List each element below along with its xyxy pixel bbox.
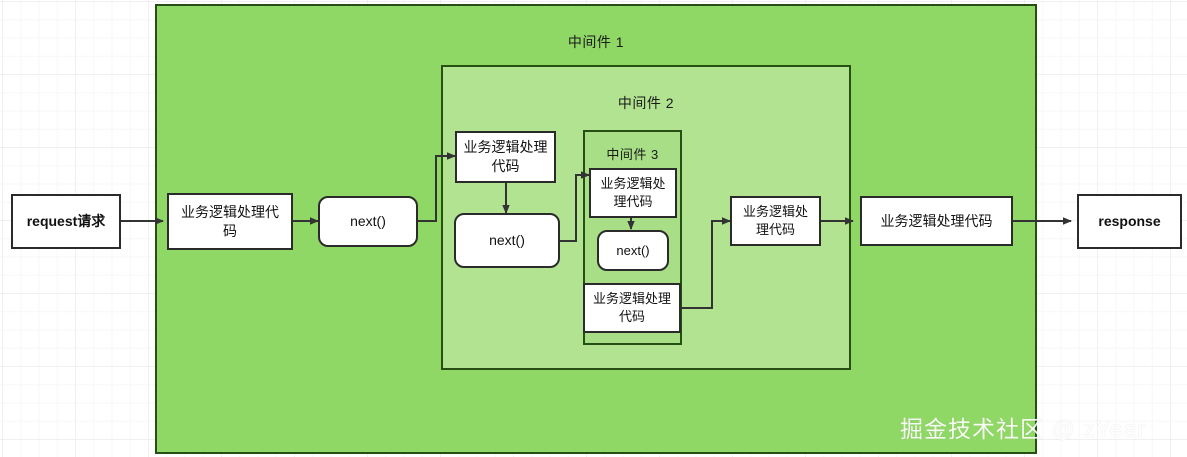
- node-mw1-logic[interactable]: 业务逻辑处理代码: [167, 193, 293, 250]
- node-mw3-logic-out[interactable]: 业务逻辑处理代码: [583, 283, 681, 333]
- node-mw1-logic-label: 业务逻辑处理代码: [175, 203, 285, 241]
- node-mw1-next[interactable]: next(): [318, 196, 418, 247]
- node-mw2-logic-in-label: 业务逻辑处理代码: [463, 138, 548, 176]
- node-mw1-logic-out-label: 业务逻辑处理代码: [881, 212, 993, 231]
- node-mw3-logic-out-label: 业务逻辑处理代码: [591, 290, 673, 325]
- node-mw3-next[interactable]: next(): [597, 230, 669, 271]
- node-mw3-next-label: next(): [616, 242, 649, 260]
- node-mw3-logic-in-label: 业务逻辑处理代码: [597, 175, 669, 210]
- node-mw1-logic-out[interactable]: 业务逻辑处理代码: [860, 196, 1013, 246]
- node-response-label: response: [1098, 212, 1160, 231]
- node-response[interactable]: response: [1077, 194, 1182, 249]
- node-mw2-logic-out-label: 业务逻辑处理代码: [738, 203, 813, 238]
- node-mw2-logic-in[interactable]: 业务逻辑处理代码: [455, 131, 556, 183]
- node-mw2-next[interactable]: next(): [454, 213, 560, 268]
- edge-mw2next-to-mw3logic: [560, 175, 589, 241]
- edge-mw1next-to-mw2logic: [418, 156, 455, 221]
- node-request[interactable]: request请求: [11, 194, 121, 249]
- node-mw2-logic-out[interactable]: 业务逻辑处理代码: [730, 196, 821, 246]
- node-mw2-next-label: next(): [489, 231, 525, 250]
- diagram-canvas: 中间件 1 中间件 2 中间件 3: [0, 0, 1187, 457]
- node-request-label: request请求: [27, 212, 106, 231]
- edge-mw3logicout-to-mw2logicout: [681, 221, 730, 308]
- node-mw1-next-label: next(): [350, 212, 386, 231]
- watermark: 掘金技术社区 @ zYear: [900, 410, 1146, 444]
- node-mw3-logic-in[interactable]: 业务逻辑处理代码: [589, 168, 677, 218]
